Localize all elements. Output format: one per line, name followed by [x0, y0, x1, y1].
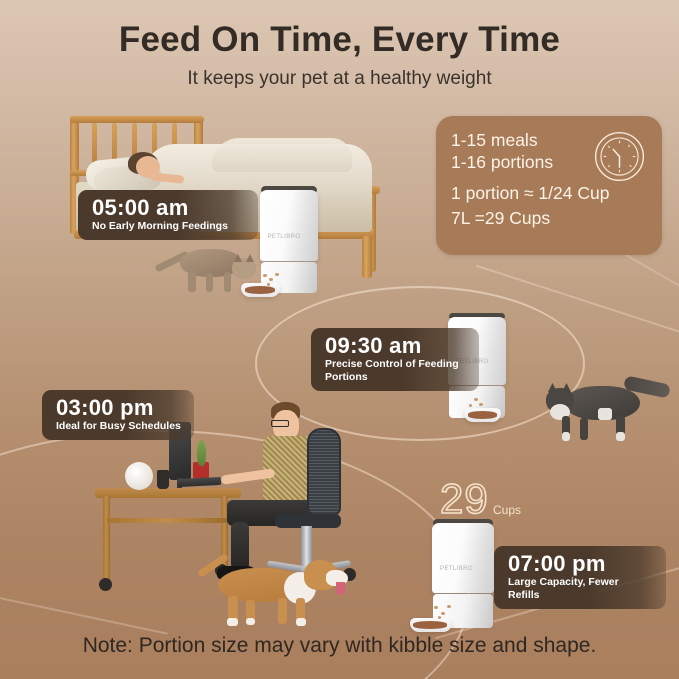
desk-stretcher: [107, 518, 227, 523]
time-caption: Large Capacity, Fewer Refills: [508, 576, 653, 602]
feeder-unit-bedroom: PETLIBRO: [260, 186, 318, 296]
feeder-bowl-food: [468, 411, 497, 419]
feeder-brand-logo: PETLIBRO: [268, 234, 301, 240]
feeder-brand-logo: PETLIBRO: [440, 566, 473, 572]
desk-caster-left: [99, 578, 112, 591]
dog: [196, 552, 352, 628]
capacity-unit: Cups: [493, 503, 521, 517]
time-badge-morning: 05:00 am No Early Morning Feedings: [78, 190, 258, 240]
kibble-2: [479, 403, 483, 406]
page-title: Feed On Time, Every Time: [0, 20, 679, 60]
dog-leg-front-2: [278, 598, 287, 624]
cat-leg-front-2: [580, 418, 588, 440]
bed-foot-leg: [362, 236, 372, 278]
cat-paw-front: [562, 432, 570, 441]
desk-lamp-shade: [125, 462, 153, 490]
feeder-unit-evening: PETLIBRO: [432, 519, 494, 631]
desk-surface: [95, 488, 241, 498]
pen-cup: [157, 470, 169, 489]
potted-plant: [197, 440, 206, 466]
feeder-hopper: [432, 523, 494, 592]
feeder-bowl-food: [413, 621, 446, 629]
capacity-callout: 29 Cups: [440, 478, 489, 520]
cat-leg-front: [224, 272, 231, 292]
time-badge-midmorning: 09:30 am Precise Control of Feeding Port…: [311, 328, 479, 391]
kibble-4: [267, 283, 270, 286]
footer-note: Note: Portion size may vary with kibble …: [0, 634, 679, 658]
cat-paw-rear: [616, 432, 625, 441]
dog-paw-mid: [246, 618, 255, 625]
bed-headboard-top-rail: [70, 116, 204, 123]
eyeglasses: [271, 420, 289, 427]
spec-capacity: 7L =29 Cups: [451, 206, 647, 231]
dog-paw-rear: [227, 618, 238, 626]
page-subtitle: It keeps your pet at a healthy weight: [0, 68, 679, 90]
kibble-2: [441, 612, 445, 615]
kibble-3: [275, 273, 279, 276]
time-caption: Precise Control of Feeding Portions: [325, 358, 466, 384]
time-badge-evening: 07:00 pm Large Capacity, Fewer Refills: [494, 546, 666, 609]
capacity-value: 29: [440, 478, 489, 520]
cat-hind-marking: [598, 408, 612, 420]
specification-card: 1-15 meals 1-16 portions 1 portion ≈ 1/2…: [436, 116, 662, 255]
time-label: 07:00 pm: [508, 551, 653, 576]
keyboard: [177, 477, 221, 487]
cat-leg-rear: [188, 271, 196, 292]
kibble-3: [469, 404, 472, 407]
dog-tongue: [336, 582, 345, 595]
clock-icon: [593, 130, 646, 183]
feeder-hopper: [260, 190, 318, 260]
time-badge-afternoon: 03:00 pm Ideal for Busy Schedules: [42, 390, 194, 440]
time-label: 03:00 pm: [56, 395, 181, 420]
feeder-bowl-food: [245, 286, 275, 294]
duvet-fold: [212, 138, 352, 172]
longhair-cat: [538, 378, 668, 444]
dog-paw-front: [296, 618, 306, 626]
time-caption: No Early Morning Feedings: [92, 220, 245, 233]
desk-leg-left: [103, 496, 110, 582]
office-chair-back: [307, 428, 341, 516]
spec-portion-size: 1 portion ≈ 1/24 Cup: [451, 181, 647, 206]
time-label: 05:00 am: [92, 195, 245, 220]
time-label: 09:30 am: [325, 333, 466, 358]
infographic-canvas: PETLIBRO PETLIBRO: [0, 0, 679, 679]
time-caption: Ideal for Busy Schedules: [56, 420, 181, 433]
cat-leg-mid: [206, 273, 213, 292]
